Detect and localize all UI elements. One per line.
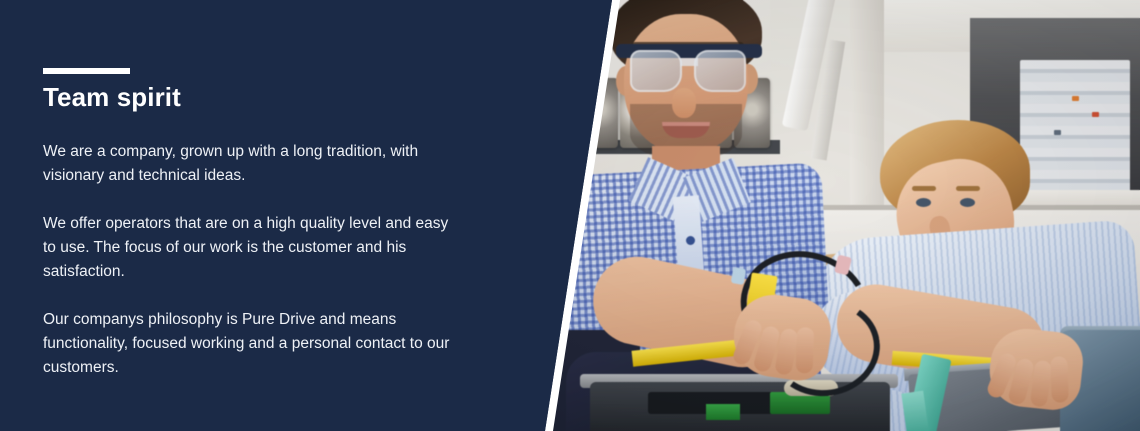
workshop-photo bbox=[520, 0, 1140, 431]
text-content: Team spirit We are a company, grown up w… bbox=[43, 0, 513, 380]
photo-vignette bbox=[520, 0, 1140, 431]
paragraph-2: We offer operators that are on a high qu… bbox=[43, 212, 463, 284]
paragraph-1: We are a company, grown up with a long t… bbox=[43, 140, 463, 188]
paragraph-3: Our companys philosophy is Pure Drive an… bbox=[43, 308, 463, 380]
accent-bar bbox=[43, 68, 130, 74]
team-spirit-banner: Team spirit We are a company, grown up w… bbox=[0, 0, 1140, 431]
page-title: Team spirit bbox=[43, 83, 513, 112]
text-panel: Team spirit We are a company, grown up w… bbox=[0, 0, 618, 431]
